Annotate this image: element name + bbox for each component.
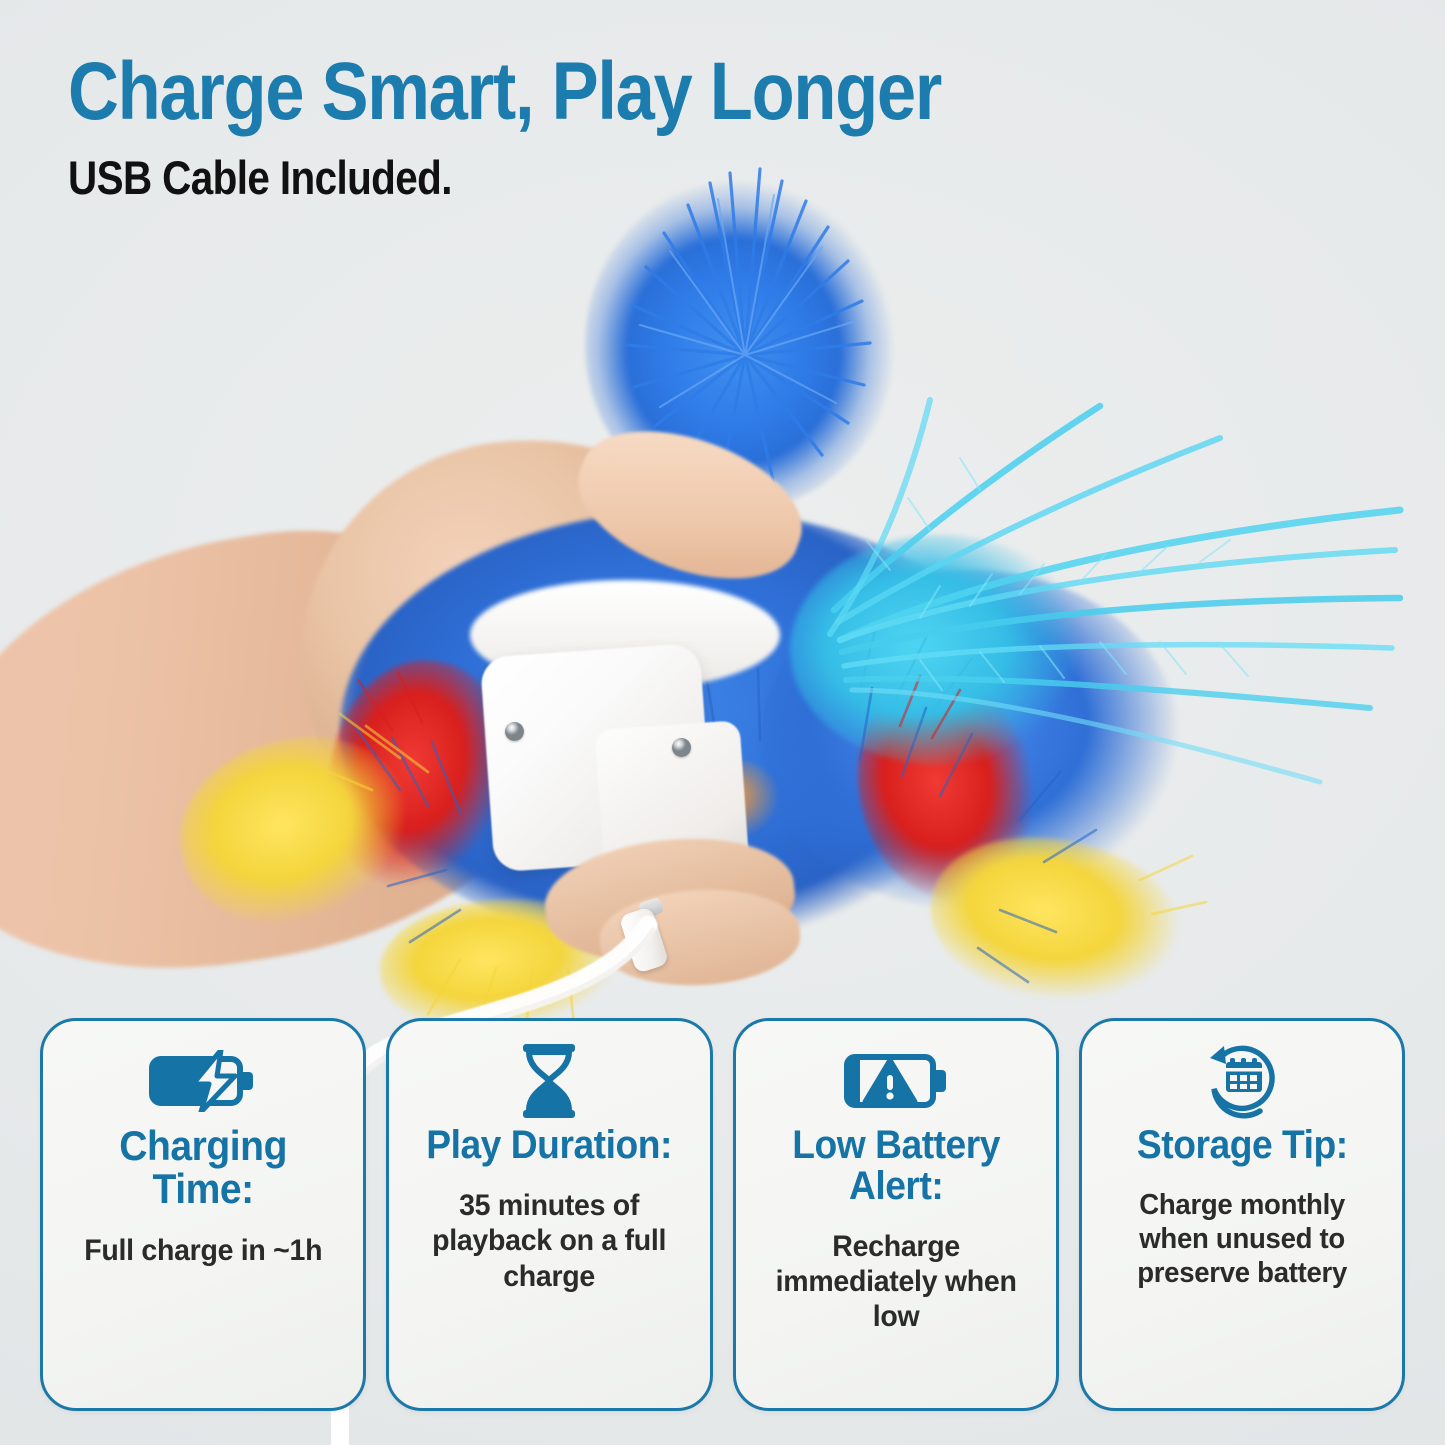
- screw: [672, 738, 691, 757]
- card-play-duration[interactable]: Play Duration: 35 minutes of playback on…: [386, 1018, 712, 1411]
- screw: [505, 722, 524, 741]
- card-title: Storage Tip:: [1136, 1125, 1347, 1166]
- card-low-battery-alert[interactable]: Low Battery Alert: Recharge immediately …: [733, 1018, 1059, 1411]
- card-title: Charging Time:: [67, 1125, 339, 1211]
- card-title: Play Duration:: [427, 1125, 673, 1166]
- card-body: Full charge in ~1h: [84, 1233, 322, 1268]
- card-body: 35 minutes of playback on a full charge: [411, 1188, 689, 1294]
- cyan-feather-tail: [800, 390, 1420, 860]
- card-title: Low Battery Alert:: [760, 1125, 1032, 1207]
- subheadline: USB Cable Included.: [68, 154, 941, 201]
- product-infographic: Charge Smart, Play Longer USB Cable Incl…: [0, 0, 1445, 1445]
- battery-charging-icon: [149, 1043, 257, 1119]
- battery-low-warning-icon: [844, 1043, 948, 1119]
- card-body: Charge monthly when unused to preserve b…: [1103, 1188, 1381, 1291]
- calendar-refresh-icon: [1202, 1043, 1282, 1119]
- card-storage-tip[interactable]: Storage Tip: Charge monthly when unused …: [1079, 1018, 1405, 1411]
- page-title: Charge Smart, Play Longer: [68, 52, 941, 132]
- card-charging-time[interactable]: Charging Time: Full charge in ~1h: [40, 1018, 366, 1411]
- headline-block: Charge Smart, Play Longer USB Cable Incl…: [68, 52, 1083, 201]
- feature-cards: Charging Time: Full charge in ~1h Play D…: [40, 1018, 1405, 1411]
- card-body: Recharge immediately when low: [757, 1229, 1035, 1335]
- product-photo: [0, 140, 1445, 1040]
- hourglass-icon: [513, 1043, 585, 1119]
